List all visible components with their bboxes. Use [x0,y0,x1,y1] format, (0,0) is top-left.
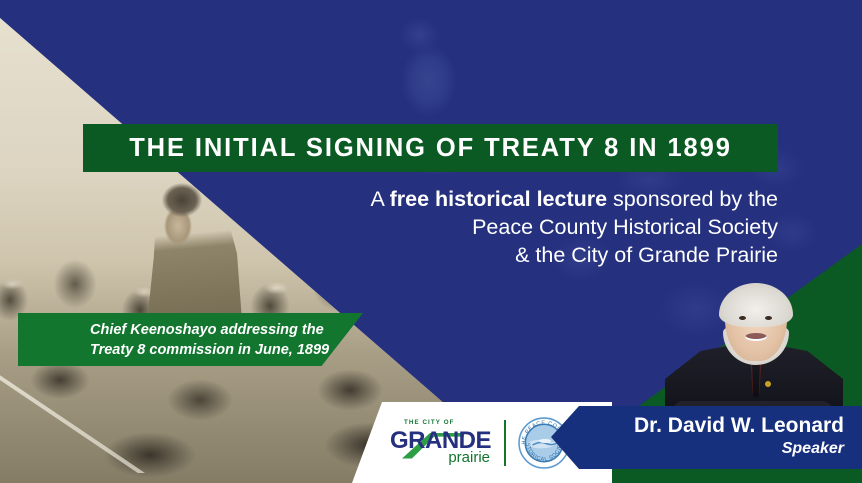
caption-line-2: Treaty 8 commission in June, 1899 [90,340,363,360]
portrait-hair [719,283,793,327]
speaker-name: Dr. David W. Leonard [551,414,844,438]
subtitle-line-2: Peace County Historical Society [298,214,778,242]
portrait-smile [745,333,767,341]
speaker-role: Speaker [551,440,844,458]
caption-line-1: Chief Keenoshayo addressing the [90,320,363,340]
city-logo-subword: prairie [448,449,490,466]
subtitle-block: A free historical lecture sponsored by t… [298,186,778,270]
logo-divider [504,420,506,466]
subtitle-suffix: sponsored by the [607,187,778,211]
subtitle-line-3: & the City of Grande Prairie [298,242,778,270]
headline-bar: THE INITIAL SIGNING OF TREATY 8 IN 1899 [83,124,778,172]
poster: THE INITIAL SIGNING OF TREATY 8 IN 1899 … [0,0,862,483]
page-title: THE INITIAL SIGNING OF TREATY 8 IN 1899 [129,134,732,163]
city-logo-eyebrow: THE CITY OF [404,419,455,426]
portrait-lapel-pin-icon [765,381,771,387]
photo-caption-banner: Chief Keenoshayo addressing the Treaty 8… [18,313,363,366]
portrait-eye-right [765,316,772,320]
subtitle-emphasis: free historical lecture [390,187,607,211]
subtitle-line-1: A free historical lecture sponsored by t… [298,186,778,214]
subtitle-prefix: A [370,187,389,211]
portrait-eye-left [739,316,746,320]
city-of-grande-prairie-logo: THE CITY OF GRANDE prairie [388,417,492,469]
speaker-bar: Dr. David W. Leonard Speaker [551,406,862,469]
